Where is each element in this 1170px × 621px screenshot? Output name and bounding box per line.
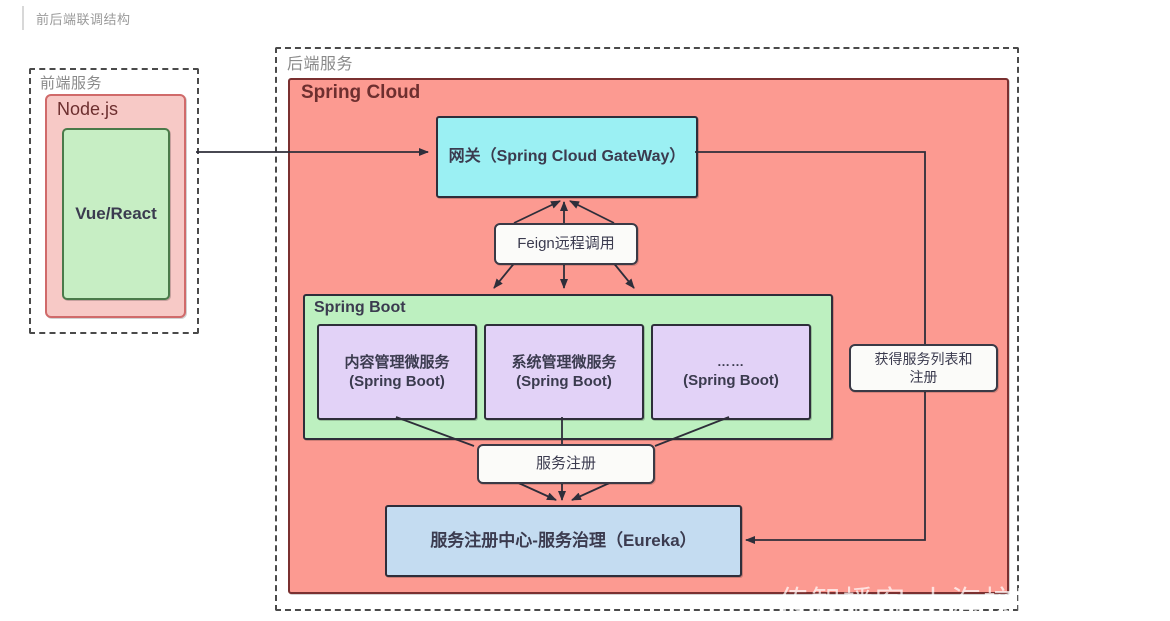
node-microservice-content-line2: (Spring Boot)	[349, 372, 445, 391]
node-microservice-content-line1: 内容管理微服务	[344, 353, 449, 372]
node-microservice-other-line2: (Spring Boot)	[683, 371, 779, 390]
frontend-zone-label: 前端服务	[40, 72, 102, 93]
edge-label-service-register: 服务注册	[477, 444, 655, 484]
edge-label-fetch-list-line2: 注册	[910, 368, 938, 386]
nodejs-panel-title: Node.js	[57, 99, 118, 120]
edge-label-feign-text: Feign远程调用	[517, 234, 615, 254]
backend-zone-label: 后端服务	[287, 50, 353, 74]
node-gateway[interactable]: 网关（Spring Cloud GateWay）	[436, 116, 698, 198]
edge-label-service-register-text: 服务注册	[536, 454, 596, 474]
node-microservice-system-line1: 系统管理微服务	[511, 353, 616, 372]
node-gateway-label: 网关（Spring Cloud GateWay）	[449, 147, 686, 167]
node-vue-react[interactable]: Vue/React	[62, 128, 170, 300]
node-microservice-content[interactable]: 内容管理微服务 (Spring Boot)	[317, 324, 477, 420]
node-eureka[interactable]: 服务注册中心-服务治理（Eureka）	[385, 505, 742, 577]
node-eureka-label: 服务注册中心-服务治理（Eureka）	[430, 530, 696, 552]
diagram-canvas: 前后端联调结构 前端服务 Node.js Vue/React 后端服务 Spri…	[0, 0, 1170, 618]
edge-label-fetch-list: 获得服务列表和 注册	[849, 344, 998, 392]
edge-label-fetch-list-line1: 获得服务列表和	[875, 350, 973, 368]
page-title: 前后端联调结构	[22, 6, 131, 30]
node-microservice-other[interactable]: …… (Spring Boot)	[651, 324, 811, 420]
node-microservice-system-line2: (Spring Boot)	[516, 372, 612, 391]
node-microservice-system[interactable]: 系统管理微服务 (Spring Boot)	[484, 324, 644, 420]
watermark: 传智播客-上海校区	[779, 577, 1047, 621]
node-vue-react-label: Vue/React	[75, 203, 157, 225]
edge-label-feign: Feign远程调用	[494, 223, 638, 265]
spring-cloud-panel-title: Spring Cloud	[301, 82, 420, 104]
node-microservice-other-line1: ……	[717, 354, 745, 371]
spring-boot-panel-title: Spring Boot	[314, 299, 406, 317]
